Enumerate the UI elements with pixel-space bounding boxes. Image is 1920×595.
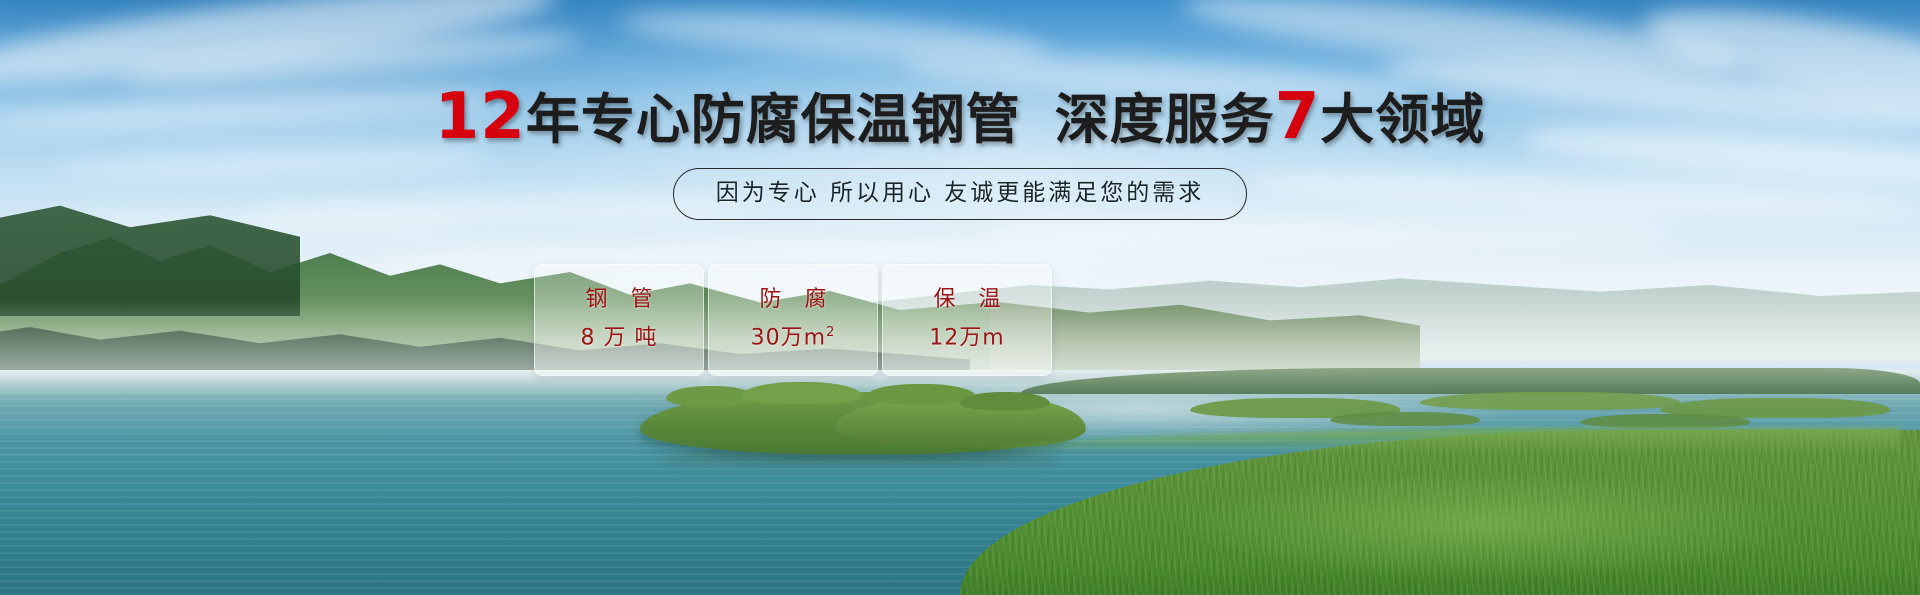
subtitle-pill: 因为专心 所以用心 友诚更能满足您的需求 <box>673 168 1248 220</box>
stat-card-value: 8 万 吨 <box>581 316 658 355</box>
stat-card-anticorrosion[interactable]: 防 腐 30万m2 <box>708 264 878 376</box>
headline: 12年专心防腐保温钢管深度服务7大领域 <box>0 86 1920 151</box>
stat-card-value-text: 8 万 吨 <box>581 326 658 351</box>
stat-card-steel-pipe[interactable]: 钢 管 8 万 吨 <box>534 264 704 376</box>
stat-card-group: 钢 管 8 万 吨 防 腐 30万m2 保 温 12万m <box>534 264 1052 376</box>
headline-fields-number: 7 <box>1275 80 1321 154</box>
stat-card-value-text: 12万m <box>929 326 1004 351</box>
stat-card-title: 钢 管 <box>578 284 661 316</box>
headline-segment-two-prefix: 深度服务 <box>1055 88 1275 151</box>
stat-card-title: 保 温 <box>926 284 1009 316</box>
stat-card-insulation[interactable]: 保 温 12万m <box>882 264 1052 376</box>
banner-content: 12年专心防腐保温钢管深度服务7大领域 因为专心 所以用心 友诚更能满足您的需求… <box>0 0 1920 595</box>
headline-segment-one: 年专心防腐保温钢管 <box>526 88 1021 151</box>
stat-card-value: 30万m2 <box>751 316 836 355</box>
stat-card-value-sup: 2 <box>826 325 835 340</box>
stat-card-title: 防 腐 <box>752 284 835 316</box>
headline-years-number: 12 <box>435 80 526 154</box>
stat-card-value: 12万m <box>929 316 1004 355</box>
hero-banner: 12年专心防腐保温钢管深度服务7大领域 因为专心 所以用心 友诚更能满足您的需求… <box>0 0 1920 595</box>
subtitle-wrapper: 因为专心 所以用心 友诚更能满足您的需求 <box>0 168 1920 220</box>
headline-segment-two: 大领域 <box>1320 88 1485 151</box>
stat-card-value-text: 30万m <box>751 326 826 351</box>
